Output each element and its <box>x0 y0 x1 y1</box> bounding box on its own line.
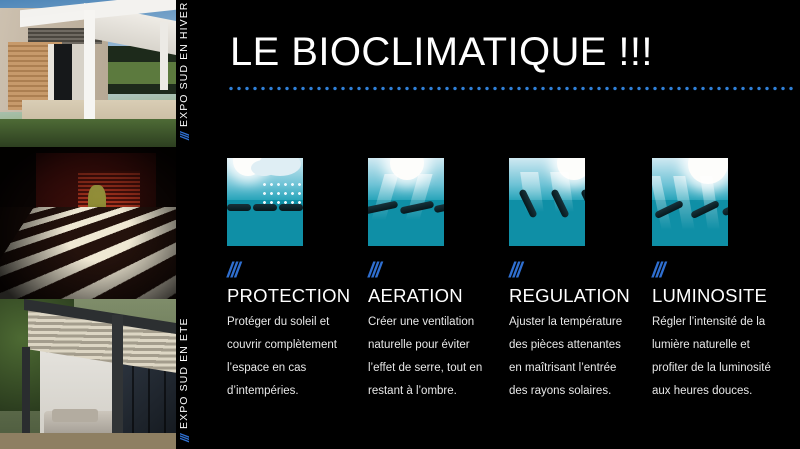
icon-ground <box>509 200 585 246</box>
sun-rain-louvers-icon <box>227 158 303 246</box>
feature-column-protection: /// PROTECTION Protéger du soleil et cou… <box>227 158 359 403</box>
feature-column-luminosite: /// LUMINOSITE Régler l’intensité de la … <box>652 158 784 403</box>
feature-description: Protéger du soleil et couvrir complèteme… <box>227 311 353 403</box>
feature-caption: LUMINOSITE <box>652 286 784 305</box>
photo1-lawn-near <box>0 119 176 147</box>
slash-marker-icon: /// <box>368 260 500 281</box>
feature-description: Ajuster la température des pièces attena… <box>509 311 635 403</box>
photo-pergola-blanche-exterieur <box>0 0 176 147</box>
feature-column-regulation: /// REGULATION Ajuster la température de… <box>509 158 641 403</box>
louver-blade <box>227 204 251 211</box>
photo3-deck <box>0 433 176 449</box>
feature-caption: PROTECTION <box>227 286 359 305</box>
photo3-cushions <box>52 409 98 422</box>
louver-blade <box>253 204 277 211</box>
feature-description: Créer une ventilation naturelle pour évi… <box>368 311 494 403</box>
photo-pergola-bioclimatique-grise <box>0 299 176 449</box>
slash-marker-icon: /// <box>509 260 641 281</box>
slash-marker-icon: /// <box>227 260 359 281</box>
rain-icon <box>261 180 303 204</box>
feature-columns: /// PROTECTION Protéger du soleil et cou… <box>227 158 797 448</box>
sun-open-louvers-icon <box>368 158 444 246</box>
slide-bioclimatique: /// EXPO SUD EN HIVER /// EXPO SUD EN ET… <box>0 0 800 449</box>
side-label-expo-sud-en-ete: /// EXPO SUD EN ETE <box>178 310 202 442</box>
side-label-text: EXPO SUD EN ETE <box>178 317 190 429</box>
feature-column-aeration: /// AERATION Créer une ventilation natur… <box>368 158 500 403</box>
photo1-post-right <box>160 22 168 90</box>
side-label-text: EXPO SUD EN HIVER <box>178 2 190 127</box>
feature-caption: AERATION <box>368 286 500 305</box>
slash-marker-icon: /// <box>652 260 784 281</box>
photo-interieur-ombres-lames <box>0 147 176 299</box>
photo3-post-right <box>112 315 123 447</box>
slash-marker-icon: /// <box>178 435 192 442</box>
page-title: LE BIOCLIMATIQUE !!! <box>230 32 653 72</box>
sun-rays-louvers-icon <box>652 158 728 246</box>
feature-description: Régler l’intensité de la lumière naturel… <box>652 311 778 403</box>
louver-blade <box>279 204 303 211</box>
cloud-icon <box>251 160 277 176</box>
photo-strip <box>0 0 176 449</box>
sun-tilted-louvers-icon <box>509 158 585 246</box>
dotted-rule-divider <box>227 86 796 91</box>
slash-marker-icon: /// <box>178 133 192 140</box>
feature-caption: REGULATION <box>509 286 641 305</box>
side-label-expo-sud-en-hiver: /// EXPO SUD EN HIVER <box>178 8 202 140</box>
photo2-vignette <box>0 147 176 299</box>
